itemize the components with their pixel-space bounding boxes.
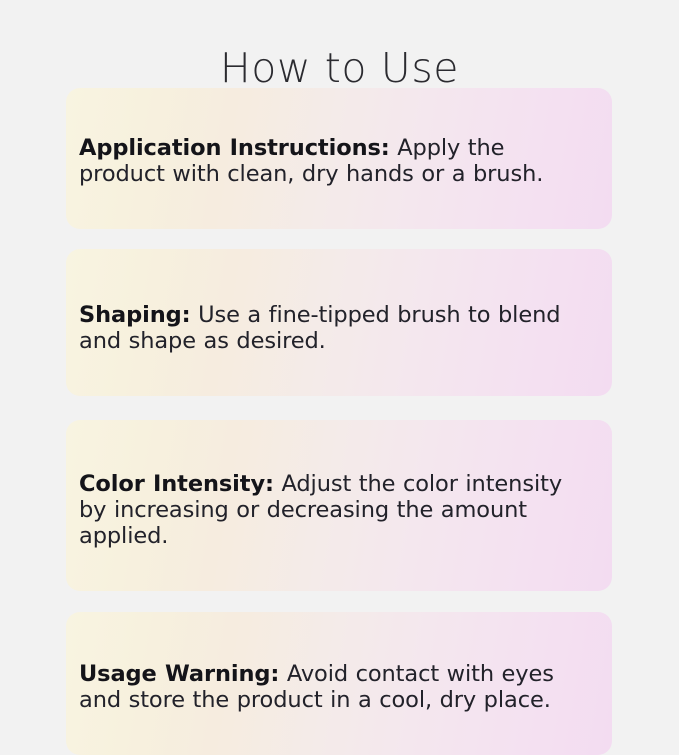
instruction-card-label: Usage Warning: xyxy=(79,661,279,687)
instruction-card-text: Usage Warning: Avoid contact with eyes a… xyxy=(79,661,592,713)
instruction-card-label: Shaping: xyxy=(79,302,191,328)
instruction-card-text: Shaping: Use a fine-tipped brush to blen… xyxy=(79,302,592,354)
instruction-card-text: Application Instructions: Apply the prod… xyxy=(79,135,592,187)
instruction-card-shaping: Shaping: Use a fine-tipped brush to blen… xyxy=(66,249,612,396)
instruction-card-usage-warning: Usage Warning: Avoid contact with eyes a… xyxy=(66,612,612,755)
instruction-card-color-intensity: Color Intensity: Adjust the color intens… xyxy=(66,420,612,591)
instruction-card-application-instructions: Application Instructions: Apply the prod… xyxy=(66,88,612,229)
instruction-card-label: Color Intensity: xyxy=(79,471,274,497)
how-to-use-page: How to Use Application Instructions: App… xyxy=(0,0,679,679)
instruction-card-text: Color Intensity: Adjust the color intens… xyxy=(79,471,592,549)
instruction-card-list: Application Instructions: Apply the prod… xyxy=(66,88,612,755)
instruction-card-label: Application Instructions: xyxy=(79,135,390,161)
page-title: How to Use xyxy=(0,43,679,93)
